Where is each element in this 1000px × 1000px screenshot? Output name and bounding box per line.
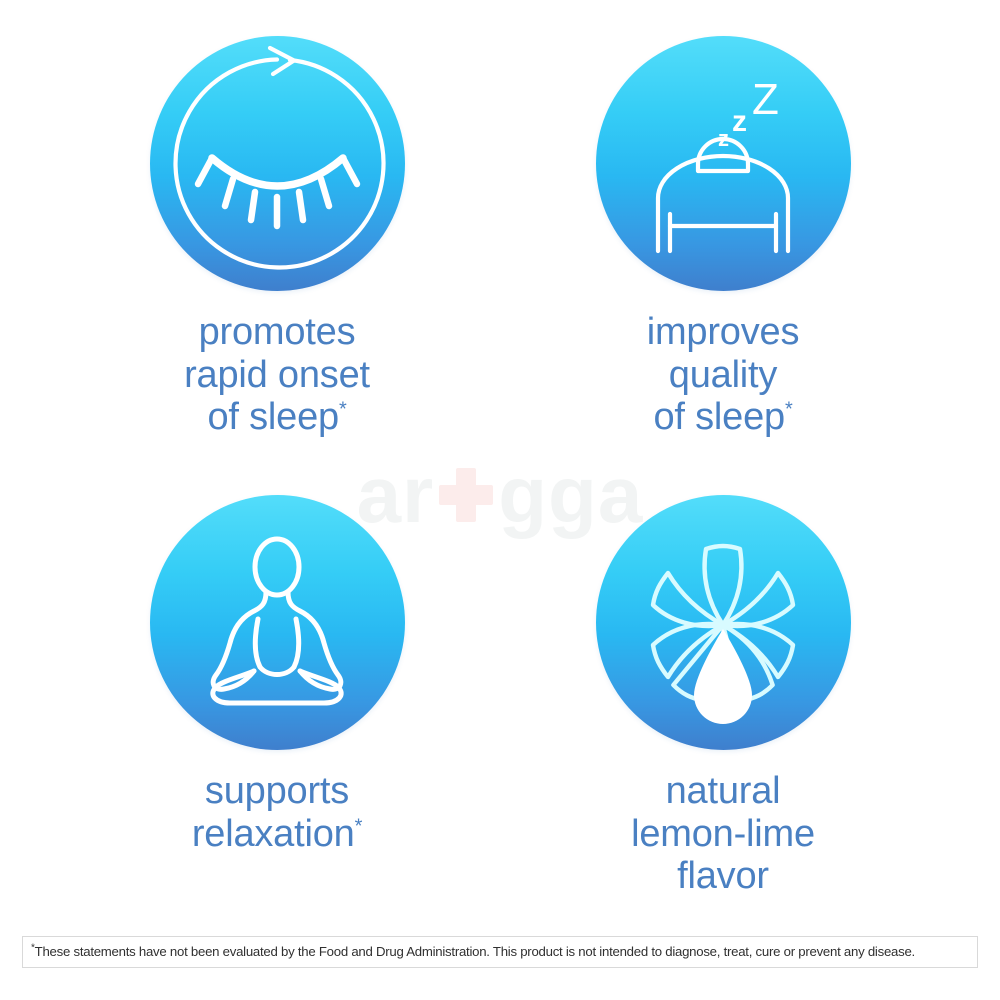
disclaimer-body: These statements have not been evaluated… <box>35 944 915 959</box>
citrus-slice-droplet-icon <box>596 495 851 750</box>
feature-item-promotes-rapid-onset: promotes rapid onset of sleep* <box>47 36 507 439</box>
caption-line: flavor <box>631 855 815 898</box>
caption-asterisk: * <box>339 398 347 420</box>
caption-line: natural <box>631 770 815 813</box>
closed-eye-clock-icon <box>150 36 405 291</box>
feature-caption: improves quality of sleep* <box>647 311 800 439</box>
feature-badge <box>150 36 405 291</box>
caption-line: promotes <box>184 311 370 354</box>
caption-line: supports <box>192 770 362 813</box>
feature-item-improves-quality: z z Z improves quality of sleep* <box>493 36 953 439</box>
caption-asterisk: * <box>355 815 363 837</box>
caption-line: lemon-lime <box>631 813 815 856</box>
caption-asterisk: * <box>785 398 793 420</box>
feature-badge: z z Z <box>596 36 851 291</box>
feature-caption: supports relaxation* <box>192 770 362 855</box>
fda-disclaimer-text: *These statements have not been evaluate… <box>31 945 915 958</box>
caption-line: relaxation* <box>192 813 362 856</box>
caption-line: improves <box>647 311 800 354</box>
feature-item-supports-relaxation: supports relaxation* <box>47 495 507 855</box>
feature-caption: natural lemon-lime flavor <box>631 770 815 898</box>
caption-line: quality <box>647 354 800 397</box>
zzz-large: Z <box>752 75 779 124</box>
infographic-canvas: ar gga <box>0 0 1000 1000</box>
caption-line: rapid onset <box>184 354 370 397</box>
feature-grid: promotes rapid onset of sleep* z z Z <box>0 0 1000 930</box>
feature-badge <box>596 495 851 750</box>
feature-item-lemon-lime-flavor: natural lemon-lime flavor <box>493 495 953 898</box>
feature-caption: promotes rapid onset of sleep* <box>184 311 370 439</box>
caption-line: of sleep* <box>184 396 370 439</box>
zzz-medium: z <box>732 105 747 138</box>
bed-zzz-icon: z z Z <box>596 36 851 291</box>
droplet-shape <box>694 629 752 724</box>
fda-disclaimer-box: *These statements have not been evaluate… <box>22 936 978 968</box>
feature-badge <box>150 495 405 750</box>
meditating-person-icon <box>150 495 405 750</box>
caption-line: of sleep* <box>647 396 800 439</box>
